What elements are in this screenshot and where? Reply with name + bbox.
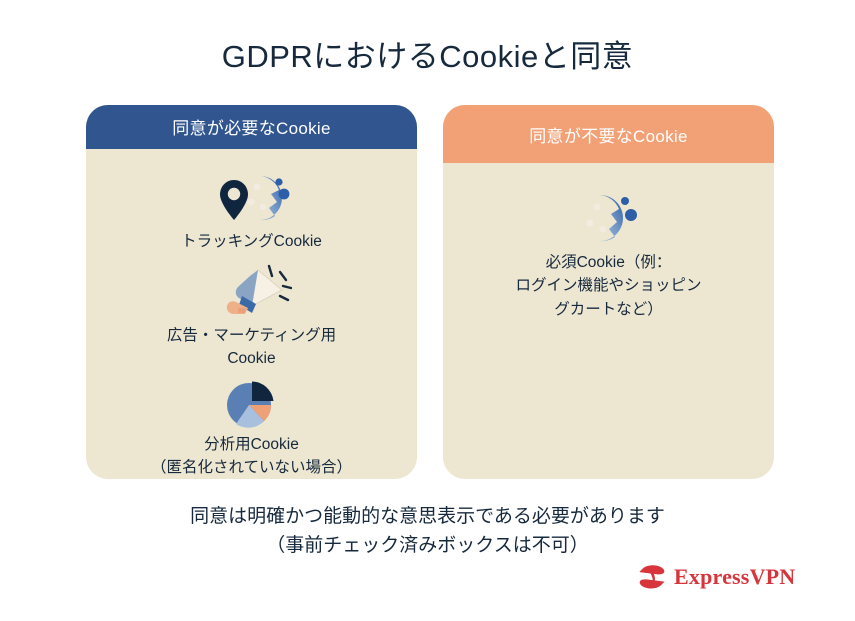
list-item-analytics-cookie: 分析用Cookie （匿名化されていない場合）: [86, 380, 417, 479]
card-body-consent-required: トラッキングCookie: [86, 149, 417, 479]
card-consent-required: 同意が必要なCookie: [86, 105, 417, 479]
card-header-consent-required: 同意が必要なCookie: [86, 105, 417, 149]
list-item-essential-cookie: 必須Cookie（例： ログイン機能やショッピン グカートなど）: [443, 191, 774, 321]
page-title: GDPRにおけるCookieと同意: [0, 38, 855, 75]
list-item-marketing-cookie: 広告・マーケティング用 Cookie: [86, 265, 417, 370]
list-item-tracking-cookie: トラッキングCookie: [86, 171, 417, 253]
cards-container: 同意が必要なCookie: [86, 105, 774, 479]
megaphone-icon: [212, 265, 292, 321]
list-item-label: トラッキングCookie: [171, 231, 332, 253]
list-item-label: 必須Cookie（例： ログイン機能やショッピン グカートなど）: [505, 251, 711, 321]
list-item-label: 広告・マーケティング用 Cookie: [157, 325, 346, 370]
cookie-location-pin-icon: [213, 171, 291, 227]
card-header-consent-not-required: 同意が不要なCookie: [443, 105, 774, 163]
infographic-slide: GDPRにおけるCookieと同意 同意が必要なCookie: [0, 0, 855, 621]
expressvpn-logo-icon: [637, 563, 667, 591]
expressvpn-wordmark: ExpressVPN: [674, 564, 795, 590]
card-consent-not-required: 同意が不要なCookie: [443, 105, 774, 479]
expressvpn-logo: ExpressVPN: [637, 562, 795, 592]
card-body-consent-not-required: 必須Cookie（例： ログイン機能やショッピン グカートなど）: [443, 163, 774, 479]
list-item-label: 分析用Cookie （匿名化されていない場合）: [141, 434, 362, 479]
footnote-text: 同意は明確かつ能動的な意思表示である必要があります （事前チェック済みボックスは…: [0, 503, 855, 560]
cookie-icon: [574, 191, 644, 247]
pie-chart-icon: [216, 380, 288, 430]
